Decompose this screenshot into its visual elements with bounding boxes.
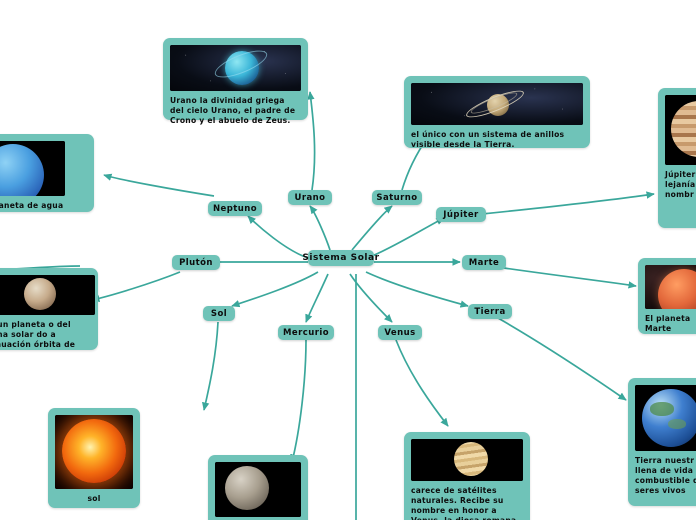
node-neptuno[interactable]: Neptuno — [208, 201, 262, 216]
node-sol[interactable]: Sol — [203, 306, 235, 321]
urano-planet-image — [170, 45, 301, 91]
card-venus[interactable]: carece de satélites naturales. Recibe su… — [404, 432, 530, 520]
node-label: Sol — [211, 309, 227, 319]
card-caption: ones un planeta o del sistema solar do a… — [0, 320, 91, 360]
card-caption: Júpiter sistema lejanía que f planeta no… — [665, 170, 696, 200]
edge-urano-card — [310, 92, 315, 190]
card-jupiter[interactable]: Júpiter sistema lejanía que f planeta no… — [658, 88, 696, 228]
node-label: Urano — [295, 193, 326, 203]
card-caption: el único con un sistema de anillos visib… — [411, 130, 583, 150]
card-caption: carece de satélites naturales. Recibe su… — [411, 486, 523, 520]
node-urano[interactable]: Urano — [288, 190, 332, 205]
mindmap-canvas: Sistema Solar Neptuno Urano Saturno Júpi… — [0, 0, 696, 520]
edge-root-jupiter — [372, 218, 444, 256]
card-tierra[interactable]: Tierra nuestr llena de vida combustible … — [628, 378, 696, 506]
card-caption: El planeta Marte — [645, 314, 696, 334]
edge-root-saturno — [352, 206, 392, 250]
tierra-planet-image — [635, 385, 696, 451]
edge-neptuno-card — [104, 175, 214, 196]
node-sistema-solar[interactable]: Sistema Solar — [308, 250, 374, 266]
venus-planet-image — [411, 439, 523, 481]
node-saturno[interactable]: Saturno — [372, 190, 422, 205]
sol-star-image — [55, 415, 133, 489]
saturno-planet-image — [411, 83, 583, 125]
node-label: Júpiter — [443, 210, 478, 220]
edge-venus-card — [396, 340, 448, 426]
edge-root-tierra — [366, 272, 468, 306]
card-neptuno[interactable]: el planeta de agua — [0, 134, 94, 212]
card-pluton[interactable]: ones un planeta o del sistema solar do a… — [0, 268, 98, 350]
edge-marte-card — [504, 268, 636, 286]
edge-root-urano — [310, 206, 330, 250]
node-label: Tierra — [474, 307, 505, 317]
node-label: Mercurio — [283, 328, 329, 338]
node-label: Sistema Solar — [302, 253, 379, 263]
neptuno-planet-image — [0, 141, 65, 196]
node-pluton[interactable]: Plutón — [172, 255, 220, 270]
card-caption: sol — [55, 494, 133, 504]
node-marte[interactable]: Marte — [462, 255, 506, 270]
card-sol[interactable]: sol — [48, 408, 140, 508]
edge-mercurio-card — [292, 340, 306, 462]
node-label: Neptuno — [213, 204, 257, 214]
node-label: Plutón — [179, 258, 213, 268]
card-mercurio[interactable]: Mercurio — [208, 455, 308, 520]
edge-root-sol — [232, 272, 318, 306]
card-saturno[interactable]: el único con un sistema de anillos visib… — [404, 76, 590, 148]
edge-root-neptuno — [248, 216, 308, 258]
card-caption: Urano la divinidad griega del cielo Uran… — [170, 96, 301, 126]
jupiter-planet-image — [665, 95, 696, 165]
pluton-planet-image — [0, 275, 95, 315]
node-label: Saturno — [376, 193, 417, 203]
edge-root-mercurio — [306, 274, 328, 322]
marte-planet-image — [645, 265, 696, 309]
card-caption: el planeta de agua — [0, 201, 87, 211]
card-urano[interactable]: Urano la divinidad griega del cielo Uran… — [163, 38, 308, 120]
mercurio-planet-image — [215, 462, 301, 517]
edge-root-venus — [350, 274, 392, 322]
node-tierra[interactable]: Tierra — [468, 304, 512, 319]
node-label: Venus — [384, 328, 415, 338]
edge-pluton-card — [92, 272, 180, 300]
edge-tierra-card — [498, 318, 626, 400]
edge-jupiter-card — [482, 194, 654, 214]
card-marte[interactable]: El planeta Marte — [638, 258, 696, 334]
card-caption: Tierra nuestr llena de vida combustible … — [635, 456, 696, 496]
node-jupiter[interactable]: Júpiter — [436, 207, 486, 222]
node-label: Marte — [469, 258, 499, 268]
node-mercurio[interactable]: Mercurio — [278, 325, 334, 340]
node-venus[interactable]: Venus — [378, 325, 422, 340]
edge-sol-card — [204, 322, 218, 410]
